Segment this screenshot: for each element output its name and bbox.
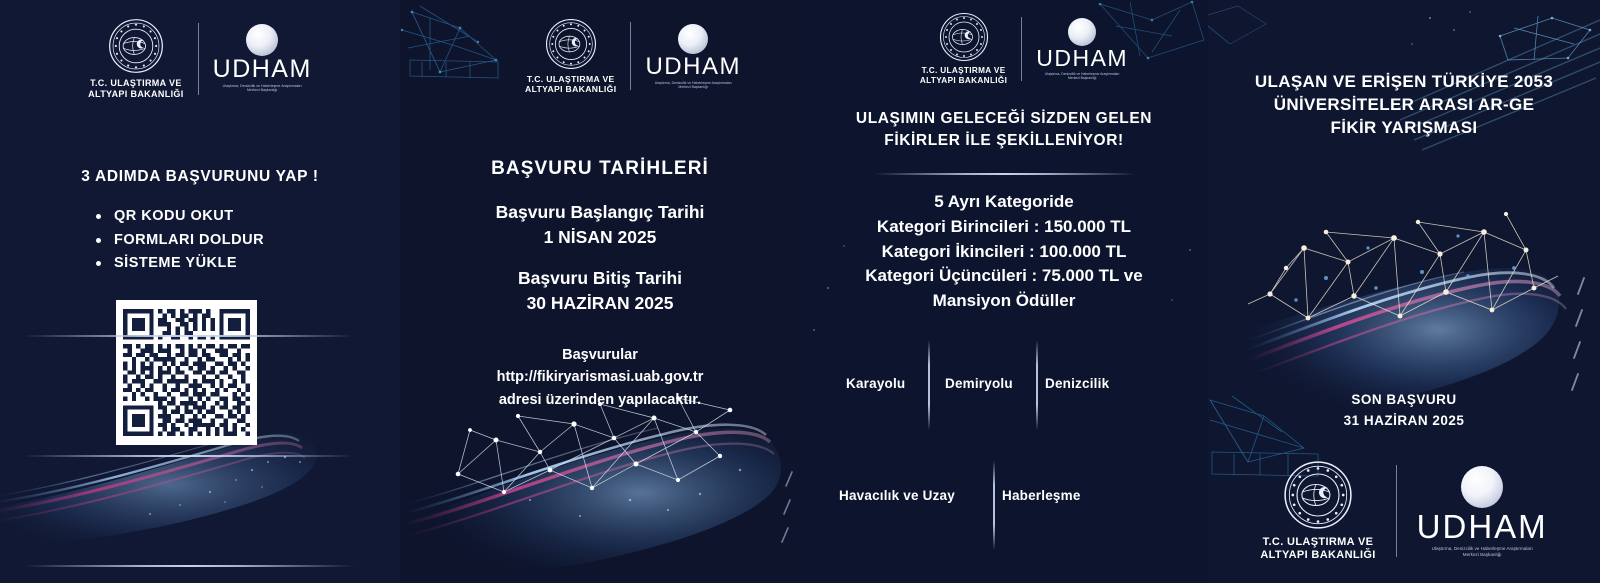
steps-title: 3 ADIMDA BAŞVURUNU YAP ! (0, 168, 400, 186)
udham-subtitle-line-1: Ulaştırma, Denizcilik ve Haberleşme Araş… (655, 81, 732, 85)
page-title: ULAŞAN VE ERİŞEN TÜRKİYE 2053 ÜNİVERSİTE… (1208, 70, 1600, 139)
application-url-link[interactable]: http://fikiryarismasi.uab.gov.tr (400, 366, 800, 388)
ministry-logo-text: T.C. ULAŞTIRMA VE ALTYAPI BAKANLIĞI (920, 66, 1007, 86)
header-logo-row-steps: T.C. ULAŞTIRMA VE ALTYAPI BAKANLIĞI UDHA… (0, 18, 400, 100)
panel-steps: T.C. ULAŞTIRMA VE ALTYAPI BAKANLIĞI UDHA… (0, 0, 400, 583)
udham-subtitle-line-2: Merkezi Başkanlığı (223, 89, 302, 93)
application-url-block: Başvurular http://fikiryarismasi.uab.gov… (400, 344, 800, 411)
ministry-line-1: T.C. ULAŞTIRMA VE (920, 66, 1007, 76)
logo-divider (1396, 465, 1397, 557)
udham-globe-orb-icon (1068, 18, 1096, 46)
list-item: SİSTEME YÜKLE (96, 255, 264, 271)
title-line-3: FİKİR YARIŞMASI (1218, 116, 1590, 139)
prizes-headline-line-2: FİKİRLER İLE ŞEKİLLENİYOR! (800, 130, 1208, 152)
turkish-ministry-seal-icon (939, 12, 989, 62)
qr-code-matrix (123, 307, 250, 438)
turkish-ministry-seal-icon (108, 18, 164, 74)
list-item: FORMLARI DOLDUR (96, 232, 264, 248)
udham-wordmark: UDHAM (1036, 47, 1128, 70)
udham-wordmark: UDHAM (213, 57, 312, 82)
header-logo-row-prizes: T.C. ULAŞTIRMA VE ALTYAPI BAKANLIĞI UDHA… (874, 12, 1174, 86)
footer-logo-row: T.C. ULAŞTIRMA VE ALTYAPI BAKANLIĞI UDHA… (1208, 460, 1600, 563)
divider-above-prizes (874, 173, 1136, 175)
dates-heading: BAŞVURU TARİHLERİ (400, 158, 800, 180)
udham-subtitle-line-2: Merkezi Başkanlığı (1045, 76, 1120, 80)
udham-logo: UDHAM Ulaştırma, Denizcilik ve Haberleşm… (1417, 466, 1548, 557)
deadline-label: SON BAŞVURU (1208, 390, 1600, 411)
udham-wordmark: UDHAM (1417, 510, 1548, 543)
udham-subtitle-line-2: Merkezi Başkanlığı (1432, 551, 1533, 556)
udham-globe-orb-icon (678, 24, 708, 54)
udham-logo: UDHAM Ulaştırma, Denizcilik ve Haberleşm… (213, 24, 312, 93)
logo-divider (198, 23, 199, 95)
start-date-label: Başvuru Başlangıç Tarihi (400, 200, 800, 225)
start-date-block: Başvuru Başlangıç Tarihi 1 NİSAN 2025 (400, 200, 800, 251)
start-date-value: 1 NİSAN 2025 (400, 225, 800, 250)
udham-globe-orb-icon (1461, 466, 1503, 508)
steps-list: QR KODU OKUT FORMLARI DOLDUR SİSTEME YÜK… (96, 208, 264, 279)
logo-divider (1021, 17, 1022, 81)
ministry-line-1: T.C. ULAŞTIRMA VE (88, 78, 183, 89)
udham-subtitle: Ulaştırma, Denizcilik ve Haberleşme Araş… (1045, 72, 1120, 80)
end-date-block: Başvuru Bitiş Tarihi 30 HAZİRAN 2025 (400, 266, 800, 317)
ministry-line-1: T.C. ULAŞTIRMA VE (525, 74, 616, 84)
qr-code-icon[interactable] (116, 300, 257, 445)
deadline-date: 31 HAZİRAN 2025 (1208, 411, 1600, 432)
end-date-label: Başvuru Bitiş Tarihi (400, 266, 800, 291)
end-date-value: 30 HAZİRAN 2025 (400, 291, 800, 316)
ministry-line-2: ALTYAPI BAKANLIĞI (920, 76, 1007, 86)
ministry-line-2: ALTYAPI BAKANLIĞI (1260, 549, 1375, 562)
panel-dates: T.C. ULAŞTIRMA VE ALTYAPI BAKANLIĞI UDHA… (400, 0, 800, 583)
prizes-headline-line-1: ULAŞIMIN GELECEĞİ SİZDEN GELEN (800, 108, 1208, 130)
udham-subtitle: Ulaştırma, Denizcilik ve Haberleşme Araş… (223, 85, 302, 94)
panel-title: ULAŞAN VE ERİŞEN TÜRKİYE 2053 ÜNİVERSİTE… (1208, 0, 1600, 583)
list-item: QR KODU OKUT (96, 208, 264, 224)
title-line-2: ÜNİVERSİTELER ARASI AR-GE (1218, 93, 1590, 116)
ministry-line-2: ALTYAPI BAKANLIĞI (525, 84, 616, 94)
deadline-block: SON BAŞVURU 31 HAZİRAN 2025 (1208, 390, 1600, 432)
panel-prizes: T.C. ULAŞTIRMA VE ALTYAPI BAKANLIĞI UDHA… (800, 0, 1208, 583)
header-logo-row-dates: T.C. ULAŞTIRMA VE ALTYAPI BAKANLIĞI UDHA… (478, 18, 788, 95)
ministry-line-1: T.C. ULAŞTIRMA VE (1260, 536, 1375, 549)
ministry-line-2: ALTYAPI BAKANLIĞI (88, 89, 183, 100)
ministry-logo-text: T.C. ULAŞTIRMA VE ALTYAPI BAKANLIĞI (525, 74, 616, 95)
apply-label: Başvurular (400, 344, 800, 366)
udham-subtitle-line-2: Merkezi Başkanlığı (655, 85, 732, 89)
udham-logo: UDHAM Ulaştırma, Denizcilik ve Haberleşm… (645, 24, 741, 90)
ministry-logo-text: T.C. ULAŞTIRMA VE ALTYAPI BAKANLIĞI (88, 78, 183, 100)
turkish-ministry-seal-icon (1283, 460, 1353, 530)
ministry-logo-text: T.C. ULAŞTIRMA VE ALTYAPI BAKANLIĞI (1260, 536, 1375, 563)
udham-subtitle: Ulaştırma, Denizcilik ve Haberleşme Araş… (1432, 546, 1533, 557)
prize-amounts: 5 Ayrı Kategoride Kategori Birincileri :… (800, 190, 1208, 314)
udham-globe-orb-icon (246, 24, 278, 56)
udham-wordmark: UDHAM (645, 55, 741, 79)
udham-subtitle-line-1: Ulaştırma, Denizcilik ve Haberleşme Araş… (1432, 546, 1533, 551)
udham-logo: UDHAM Ulaştırma, Denizcilik ve Haberleşm… (1036, 18, 1128, 81)
poster-canvas: T.C. ULAŞTIRMA VE ALTYAPI BAKANLIĞI UDHA… (0, 0, 1600, 583)
udham-subtitle: Ulaştırma, Denizcilik ve Haberleşme Araş… (655, 81, 732, 89)
apply-note: adresi üzerinden yapılacaktır. (400, 389, 800, 411)
logo-divider (630, 22, 631, 90)
prizes-headline: ULAŞIMIN GELECEĞİ SİZDEN GELEN FİKİRLER … (800, 108, 1208, 152)
turkish-ministry-seal-icon (545, 18, 597, 70)
title-line-1: ULAŞAN VE ERİŞEN TÜRKİYE 2053 (1218, 70, 1590, 93)
